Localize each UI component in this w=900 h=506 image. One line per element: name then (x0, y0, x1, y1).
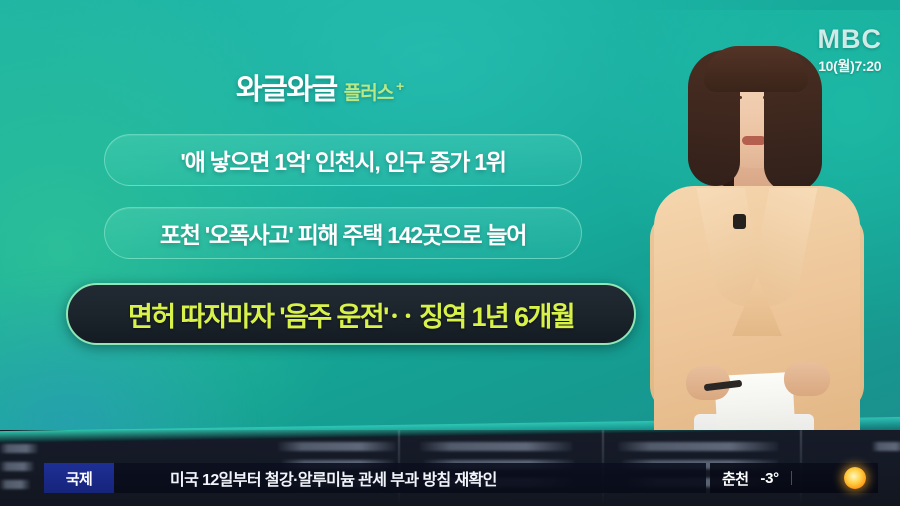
ticker-headline-text: 미국 12일부터 철강·알루미늄 관세 부과 방침 재확인 (114, 463, 706, 493)
anchor-lapel-mic-icon (733, 214, 746, 229)
desk-light-bar (420, 442, 572, 451)
desk-light-bar (618, 442, 778, 451)
news-anchor (612, 36, 900, 440)
plus-icon: + (396, 79, 403, 93)
news-ticker: 국제 미국 12일부터 철강·알루미늄 관세 부과 방침 재확인 (44, 463, 706, 493)
show-title-plus-label: 플러스 (344, 83, 393, 104)
weather-city-label: 춘천 (722, 468, 748, 489)
show-title-main: 와글와글 (236, 76, 337, 105)
anchor-hand-right (784, 362, 830, 396)
desk-light-bar (0, 480, 30, 489)
show-title-plus: 플러스 + (344, 84, 393, 105)
headline-item-2[interactable]: 포천 '오폭사고' 피해 주택 142곳으로 늘어 (104, 207, 582, 259)
ticker-category-badge: 국제 (44, 463, 114, 493)
desk-light-bar (0, 444, 38, 453)
headline-label: 포천 '오폭사고' 피해 주택 142곳으로 늘어 (160, 216, 526, 250)
show-title: 와글와글 플러스 + (236, 76, 393, 105)
headline-item-1[interactable]: '애 낳으면 1억' 인천시, 인구 증가 1위 (104, 134, 582, 186)
anchor-mouth (742, 136, 766, 145)
broadcast-screenshot: MBC 10(월)7:20 와글와글 플러스 + '애 낳으면 1억' 인천시,… (0, 0, 900, 506)
desk-light-bar (872, 442, 900, 451)
headline-item-3-active[interactable]: 면허 따자마자 '음주 운전'‥ 징역 1년 6개월 (66, 283, 636, 345)
weather-divider (791, 471, 792, 485)
weather-strip: 춘천 -3° (710, 463, 878, 493)
headline-label: 면허 따자마자 '음주 운전'‥ 징역 1년 6개월 (128, 295, 574, 334)
anchor-hair-top (704, 46, 808, 92)
headline-label: '애 낳으면 1억' 인천시, 인구 증가 1위 (180, 143, 505, 177)
desk-light-bar (278, 442, 396, 451)
desk-light-bar (0, 462, 34, 471)
sun-icon (844, 467, 866, 489)
weather-temperature: -3° (760, 470, 778, 487)
